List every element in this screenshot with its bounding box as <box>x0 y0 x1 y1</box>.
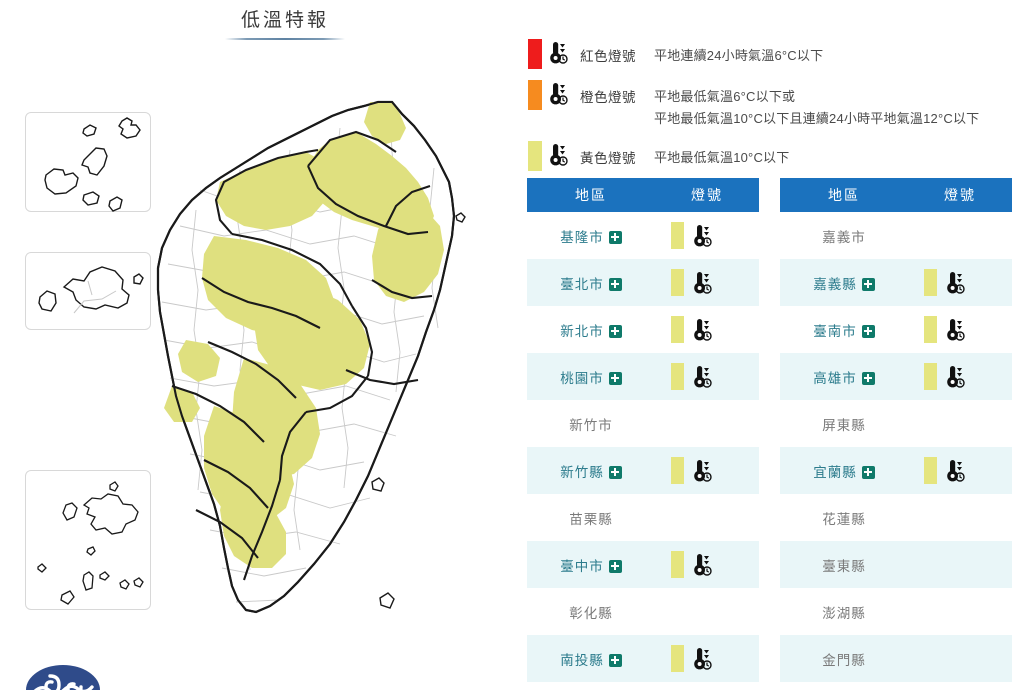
table-body-left: 基隆市臺北市新北市桃園市新竹市新竹縣苗栗縣臺中市彰化縣南投縣雲林縣 <box>527 212 759 690</box>
light-signal-cell <box>655 316 759 344</box>
thermometer-low-icon <box>690 363 714 391</box>
table-row[interactable]: 基隆市 <box>527 212 759 259</box>
area-name-label: 屏東縣 <box>822 418 866 433</box>
area-name-label: 金門縣 <box>822 653 866 668</box>
table-row: 澎湖縣 <box>780 588 1012 635</box>
light-color-bar <box>671 457 684 484</box>
light-color-bar <box>671 363 684 390</box>
table-row: 連江縣 <box>780 682 1012 690</box>
table-row[interactable]: 臺北市 <box>527 259 759 306</box>
legend-item-yellow: 黃色燈號 平地最低氣溫10°C以下 <box>528 140 1018 171</box>
thermometer-low-icon <box>690 270 712 296</box>
plus-icon[interactable] <box>862 278 875 291</box>
light-signal-cell <box>655 645 759 673</box>
light-signal-cell <box>655 551 759 579</box>
table-row: 金門縣 <box>780 635 1012 682</box>
legend-desc-red: 平地連續24小時氣溫6°C以下 <box>654 38 1018 67</box>
light-color-bar <box>671 645 684 672</box>
area-name-cell: 彰化縣 <box>527 602 655 622</box>
legend-desc-line: 平地連續24小時氣溫6°C以下 <box>654 45 1018 67</box>
thermometer-low-icon <box>690 458 712 484</box>
legend-desc-orange: 平地最低氣溫6°C以下或 平地最低氣溫10°C以下且連續24小時平地氣溫12°C… <box>654 79 1018 130</box>
thermometer-low-icon <box>943 269 967 297</box>
thermometer-low-icon <box>690 552 712 578</box>
light-signal-cell <box>655 222 759 250</box>
thermometer-low-icon <box>690 457 714 485</box>
thermometer-low-icon <box>690 223 712 249</box>
area-name-label: 宜蘭縣 <box>813 465 857 480</box>
area-name-cell: 基隆市 <box>527 226 655 246</box>
table-row: 臺東縣 <box>780 541 1012 588</box>
area-name-label: 嘉義市 <box>822 230 866 245</box>
plus-icon[interactable] <box>862 325 875 338</box>
thermometer-low-icon <box>690 551 714 579</box>
cwb-logo-icon <box>24 662 102 690</box>
area-name-cell: 苗栗縣 <box>527 508 655 528</box>
plus-icon[interactable] <box>609 466 622 479</box>
table-row: 屏東縣 <box>780 400 1012 447</box>
light-color-bar <box>924 269 937 296</box>
thermometer-low-icon <box>943 364 965 390</box>
light-signal-cell <box>655 363 759 391</box>
table-body-right: 嘉義市嘉義縣臺南市高雄市屏東縣宜蘭縣花蓮縣臺東縣澎湖縣金門縣連江縣 <box>780 212 1012 690</box>
thermometer-low-icon <box>542 140 572 168</box>
table-row[interactable]: 雲林縣 <box>527 682 759 690</box>
area-name-label: 南投縣 <box>560 653 604 668</box>
table-row[interactable]: 高雄市 <box>780 353 1012 400</box>
table-header-right: 地區 燈號 <box>780 178 1012 212</box>
plus-icon[interactable] <box>609 231 622 244</box>
thermometer-low-icon <box>943 316 967 344</box>
legend-swatch-orange <box>528 80 542 110</box>
light-signal-cell <box>655 269 759 297</box>
thermometer-low-icon <box>690 269 714 297</box>
table-row[interactable]: 桃園市 <box>527 353 759 400</box>
light-color-bar <box>924 316 937 343</box>
thermometer-low-icon <box>690 646 712 672</box>
table-row: 花蓮縣 <box>780 494 1012 541</box>
table-row: 苗栗縣 <box>527 494 759 541</box>
thermometer-low-icon <box>943 317 965 343</box>
plus-icon[interactable] <box>609 560 622 573</box>
legend-swatch-red <box>528 39 542 69</box>
plus-icon[interactable] <box>609 372 622 385</box>
table-row[interactable]: 臺中市 <box>527 541 759 588</box>
area-name-label: 臺東縣 <box>822 559 866 574</box>
area-name-cell: 新北市 <box>527 320 655 340</box>
area-name-label: 花蓮縣 <box>822 512 866 527</box>
area-name-label: 澎湖縣 <box>822 606 866 621</box>
light-color-bar <box>671 269 684 296</box>
area-name-cell: 臺東縣 <box>780 555 908 575</box>
legend-desc-line: 平地最低氣溫10°C以下且連續24小時平地氣溫12°C以下 <box>654 108 1018 130</box>
area-name-cell: 桃園市 <box>527 367 655 387</box>
area-name-label: 臺中市 <box>560 559 604 574</box>
table-row: 彰化縣 <box>527 588 759 635</box>
table-row: 嘉義市 <box>780 212 1012 259</box>
light-color-bar <box>671 316 684 343</box>
area-name-cell: 臺北市 <box>527 273 655 293</box>
plus-icon[interactable] <box>862 466 875 479</box>
table-row[interactable]: 新竹縣 <box>527 447 759 494</box>
area-name-cell: 金門縣 <box>780 649 908 669</box>
thermometer-low-icon <box>943 363 967 391</box>
column-header-area: 地區 <box>780 185 908 205</box>
light-signal-cell <box>908 316 1012 344</box>
thermometer-low-icon <box>690 222 714 250</box>
area-name-label: 高雄市 <box>813 371 857 386</box>
legend-swatch-yellow <box>528 141 542 171</box>
table-row: 新竹市 <box>527 400 759 447</box>
legend-label-red: 紅色燈號 <box>572 38 654 65</box>
column-header-area: 地區 <box>527 185 655 205</box>
page-title-text: 低溫特報 <box>205 8 365 34</box>
area-table-left: 地區 燈號 基隆市臺北市新北市桃園市新竹市新竹縣苗栗縣臺中市彰化縣南投縣雲林縣 <box>527 178 759 690</box>
area-name-cell: 嘉義市 <box>780 226 908 246</box>
area-name-cell: 嘉義縣 <box>780 273 908 293</box>
area-name-cell: 臺南市 <box>780 320 908 340</box>
light-signal-cell <box>908 457 1012 485</box>
legend-label-yellow: 黃色燈號 <box>572 140 654 167</box>
legend-desc-yellow: 平地最低氣溫10°C以下 <box>654 140 1018 169</box>
area-name-cell: 澎湖縣 <box>780 602 908 622</box>
area-table-right: 地區 燈號 嘉義市嘉義縣臺南市高雄市屏東縣宜蘭縣花蓮縣臺東縣澎湖縣金門縣連江縣 <box>780 178 1012 690</box>
thermometer-low-icon <box>542 79 572 107</box>
area-name-cell: 新竹市 <box>527 414 655 434</box>
area-name-cell: 新竹縣 <box>527 461 655 481</box>
plus-icon[interactable] <box>609 325 622 338</box>
taiwan-map-panel[interactable] <box>0 40 505 680</box>
legend-item-orange: 橙色燈號 平地最低氣溫6°C以下或 平地最低氣溫10°C以下且連續24小時平地氣… <box>528 79 1018 130</box>
plus-icon[interactable] <box>609 654 622 667</box>
cwb-logo <box>24 662 102 690</box>
area-name-cell: 南投縣 <box>527 649 655 669</box>
thermometer-low-icon <box>690 316 714 344</box>
light-signal-cell <box>908 269 1012 297</box>
column-header-light: 燈號 <box>908 185 1012 205</box>
area-name-label: 桃園市 <box>560 371 604 386</box>
legend-label-orange: 橙色燈號 <box>572 79 654 106</box>
taiwan-main-map[interactable] <box>0 40 505 680</box>
area-name-cell: 宜蘭縣 <box>780 461 908 481</box>
area-name-label: 苗栗縣 <box>569 512 613 527</box>
thermometer-low-icon <box>943 457 967 485</box>
area-name-cell: 屏東縣 <box>780 414 908 434</box>
light-color-bar <box>924 363 937 390</box>
area-name-cell: 花蓮縣 <box>780 508 908 528</box>
plus-icon[interactable] <box>862 372 875 385</box>
light-color-bar <box>924 457 937 484</box>
legend-desc-line: 平地最低氣溫10°C以下 <box>654 147 1018 169</box>
area-name-label: 彰化縣 <box>569 606 613 621</box>
thermometer-low-icon <box>943 270 965 296</box>
table-row[interactable]: 新北市 <box>527 306 759 353</box>
area-name-label: 基隆市 <box>560 230 604 245</box>
area-name-label: 新竹縣 <box>560 465 604 480</box>
thermometer-low-icon <box>690 317 712 343</box>
thermometer-low-icon <box>542 38 572 66</box>
thermometer-low-icon <box>690 364 712 390</box>
low-temperature-advisory-page: 低溫特報 <box>0 0 1024 690</box>
legend-desc-line: 平地最低氣溫6°C以下或 <box>654 86 1018 108</box>
table-row[interactable]: 南投縣 <box>527 635 759 682</box>
area-name-label: 新北市 <box>560 324 604 339</box>
legend-item-red: 紅色燈號 平地連續24小時氣溫6°C以下 <box>528 38 1018 69</box>
table-row[interactable]: 嘉義縣 <box>780 259 1012 306</box>
light-color-bar <box>671 551 684 578</box>
light-signal-cell <box>908 363 1012 391</box>
table-header-left: 地區 燈號 <box>527 178 759 212</box>
thermometer-low-icon <box>943 458 965 484</box>
light-signal-cell <box>655 457 759 485</box>
area-name-label: 新竹市 <box>569 418 613 433</box>
area-name-label: 嘉義縣 <box>813 277 857 292</box>
column-header-light: 燈號 <box>655 185 759 205</box>
area-name-cell: 高雄市 <box>780 367 908 387</box>
area-name-label: 臺北市 <box>560 277 604 292</box>
plus-icon[interactable] <box>609 278 622 291</box>
thermometer-low-icon <box>690 645 714 673</box>
table-row[interactable]: 宜蘭縣 <box>780 447 1012 494</box>
area-name-cell: 臺中市 <box>527 555 655 575</box>
area-name-label: 臺南市 <box>813 324 857 339</box>
table-row[interactable]: 臺南市 <box>780 306 1012 353</box>
page-title: 低溫特報 <box>205 8 365 40</box>
warning-level-legend: 紅色燈號 平地連續24小時氣溫6°C以下 <box>528 38 1018 181</box>
light-color-bar <box>671 222 684 249</box>
